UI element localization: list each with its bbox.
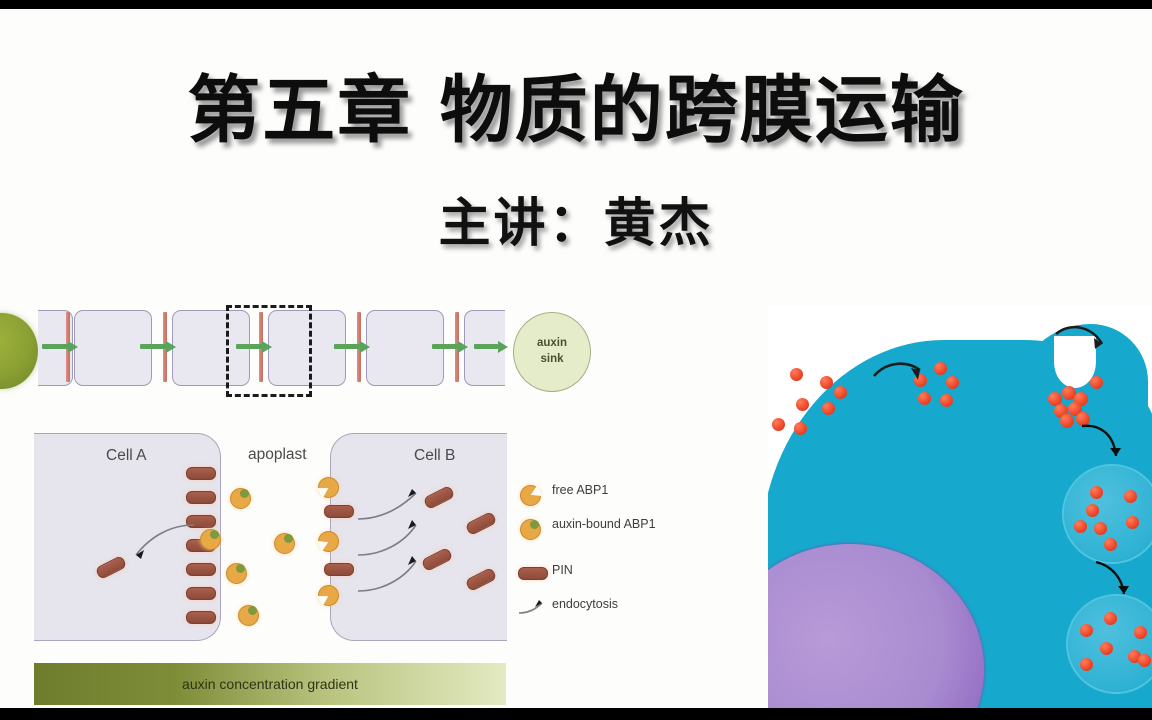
cell-b-label: Cell B xyxy=(414,447,455,465)
ligand-particle xyxy=(790,368,803,381)
ligand-particle xyxy=(946,376,959,389)
auxin-source-circle xyxy=(0,313,38,389)
ligand-particle xyxy=(822,402,835,415)
cellA-apoplast-cellB-diagram: Cell A apoplast Cell B xyxy=(34,433,506,655)
auxin-bound-abp1-icon xyxy=(520,519,541,540)
selection-dashed-box[interactable] xyxy=(226,305,312,397)
legend-label: auxin-bound ABP1 xyxy=(552,517,702,533)
ligand-particle xyxy=(934,362,947,375)
auxin-bound-abp1 xyxy=(238,605,259,626)
vesicle-particle xyxy=(1100,642,1113,655)
ligand-particle xyxy=(796,398,809,411)
ligand-particle xyxy=(820,376,833,389)
slide-canvas: 第五章 物质的跨膜运输 主讲：黄杰 xyxy=(0,9,1152,708)
slide-root: 第五章 物质的跨膜运输 主讲：黄杰 xyxy=(0,0,1152,720)
letterbox-top xyxy=(0,0,1152,9)
legend-item: PIN xyxy=(518,563,708,597)
legend-item: auxin-bound ABP1 xyxy=(518,517,708,563)
vesicle-particle xyxy=(1104,612,1117,625)
pin-membrane-cell-b xyxy=(324,563,354,576)
vesicle-particle xyxy=(1126,516,1139,529)
cell-file-diagram: auxin sink xyxy=(0,297,620,417)
ligand-cluster-particle xyxy=(1060,414,1074,428)
free-abp1-icon xyxy=(517,482,545,510)
auxin-gradient-label: auxin concentration gradient xyxy=(182,676,358,692)
vesicle-particle xyxy=(1074,520,1087,533)
legend-item: endocytosis xyxy=(518,597,708,631)
auxin-sink-label-2: sink xyxy=(540,352,563,368)
ligand-particle xyxy=(1090,376,1103,389)
ligand-particle xyxy=(772,418,785,431)
vesicle-particle xyxy=(1138,654,1151,667)
page-subtitle: 主讲：黄杰 xyxy=(0,181,1152,256)
letterbox-bottom xyxy=(0,708,1152,720)
pin-membrane-cell-a xyxy=(186,611,216,624)
transport-arrow xyxy=(140,341,176,352)
legend-label: free ABP1 xyxy=(552,483,702,499)
auxin-gradient-bar: auxin concentration gradient xyxy=(34,663,506,705)
ligand-particle xyxy=(940,394,953,407)
auxin-bound-abp1 xyxy=(274,533,295,554)
vesicle-particle xyxy=(1086,504,1099,517)
pin-icon xyxy=(518,567,548,580)
endocytosis-arrow xyxy=(356,551,428,595)
auxin-bound-abp1 xyxy=(230,488,251,509)
auxin-bound-abp1 xyxy=(200,529,221,550)
vesicle-particle xyxy=(1080,658,1093,671)
legend-label: endocytosis xyxy=(552,597,702,613)
cell-a-label: Cell A xyxy=(106,447,147,465)
pin-membrane-cell-a xyxy=(186,491,216,504)
pin-membrane-cell-a xyxy=(186,467,216,480)
auxin-sink-node: auxin sink xyxy=(513,312,591,392)
pin-membrane-cell-a xyxy=(186,587,216,600)
vesicle-particle xyxy=(1124,490,1137,503)
pin-membrane-cell-b xyxy=(324,505,354,518)
vesicle-particle xyxy=(1134,626,1147,639)
page-title: 第五章 物质的跨膜运输 xyxy=(0,51,1152,157)
vesicle-particle xyxy=(1104,538,1117,551)
ligand-particle xyxy=(918,392,931,405)
transport-arrow xyxy=(432,341,468,352)
title-zone: 第五章 物质的跨膜运输 主讲：黄杰 xyxy=(0,9,1152,289)
vesicle-particle xyxy=(1094,522,1107,535)
vesicle-particle xyxy=(1080,624,1093,637)
legend-label: PIN xyxy=(552,563,702,579)
apoplast-label: apoplast xyxy=(248,446,307,464)
vesicle-transport-arrow xyxy=(1094,558,1138,606)
endocytosis-arrow-icon xyxy=(518,599,548,617)
transport-arrow xyxy=(42,341,78,352)
auxin-bound-abp1 xyxy=(226,563,247,584)
endocytosis-illustration xyxy=(768,306,1152,708)
transport-arrow xyxy=(334,341,370,352)
legend-item: free ABP1 xyxy=(518,483,708,517)
auxin-sink-label-1: auxin xyxy=(537,336,567,352)
vesicle-formation-arrow xyxy=(1080,420,1130,470)
ligand-binding-arrow xyxy=(872,358,932,390)
ligand-particle xyxy=(794,422,807,435)
vesicle-particle xyxy=(1090,486,1103,499)
endocytosis-arrow xyxy=(110,519,196,569)
transport-arrow xyxy=(474,341,508,352)
membrane-entry-arrow xyxy=(1054,322,1112,360)
ligand-particle xyxy=(834,386,847,399)
diagram-legend: free ABP1 auxin-bound ABP1 PIN endocytos… xyxy=(518,483,708,631)
